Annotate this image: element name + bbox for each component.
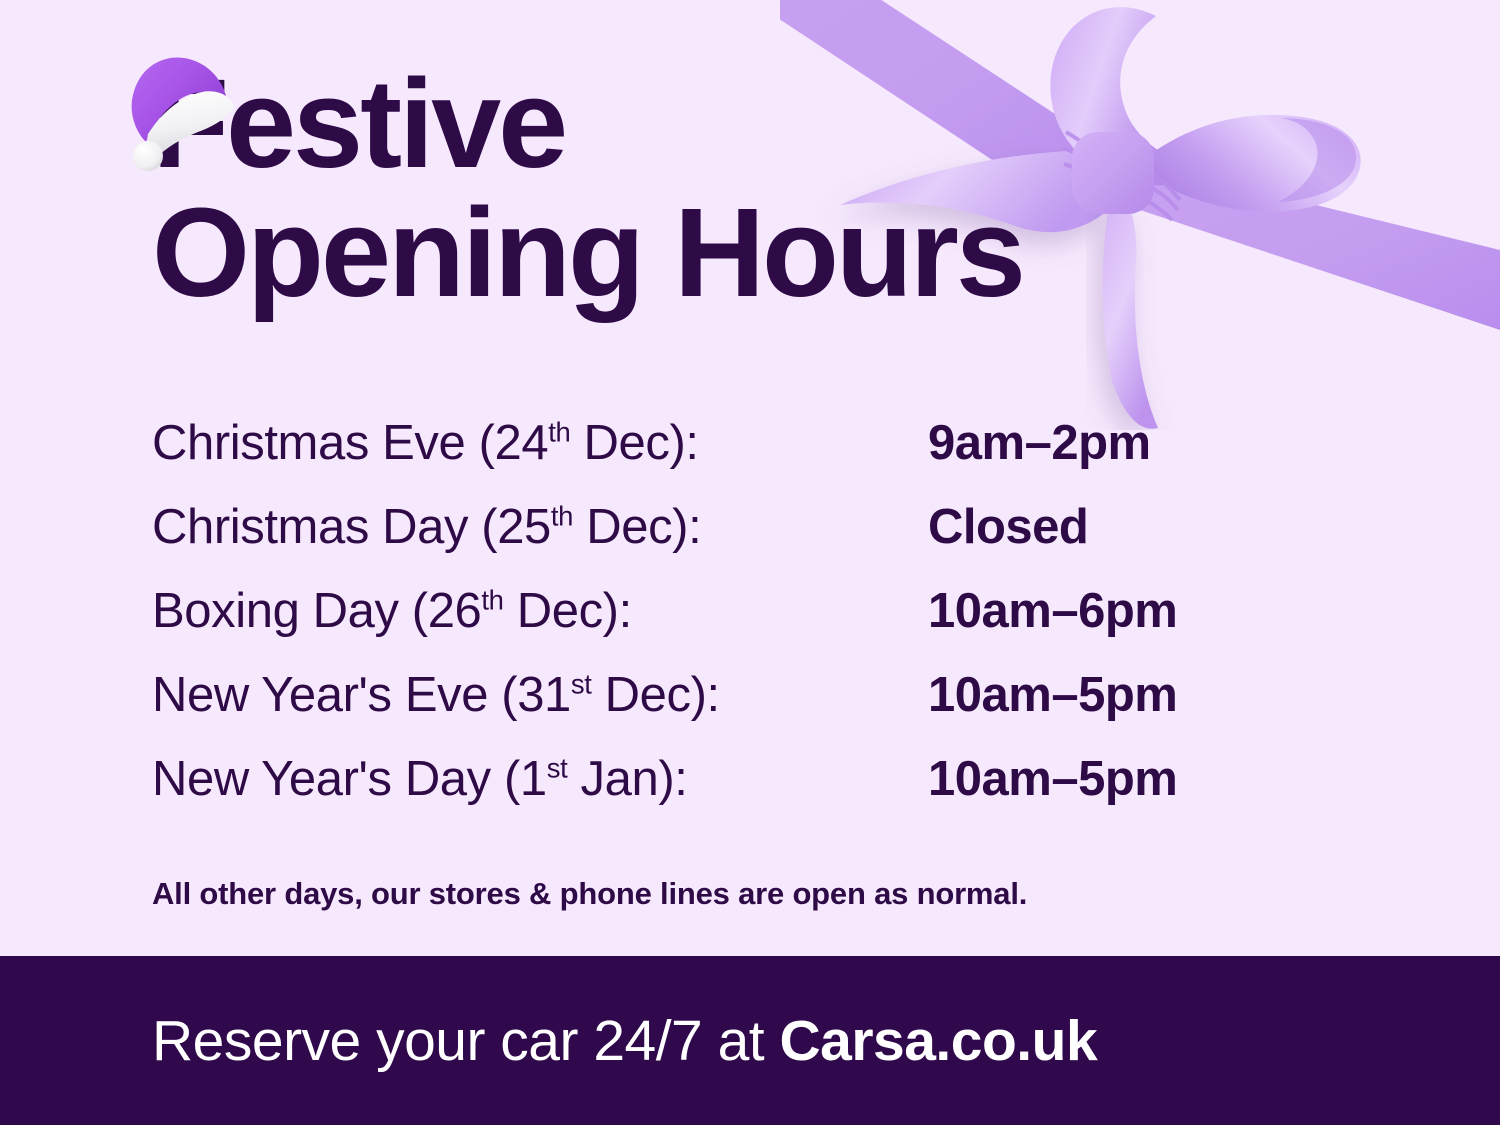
brand-link[interactable]: Carsa.co.uk <box>779 1009 1097 1073</box>
hours-value: 10am–5pm <box>928 751 1177 807</box>
hours-label: Christmas Eve (24th Dec): <box>152 415 928 471</box>
list-item: Christmas Day (25th Dec): Closed <box>152 499 1332 583</box>
hours-label-prefix: New Year's Eve (31 <box>152 668 571 722</box>
page-title: Festive Opening Hours <box>152 60 1272 317</box>
festive-opening-hours-poster: Festive Opening Hours Christmas Eve (24t… <box>0 0 1500 1125</box>
hours-label-prefix: Boxing Day (26 <box>152 584 481 638</box>
hours-value: 10am–5pm <box>928 667 1177 723</box>
footer-banner: Reserve your car 24/7 at Carsa.co.uk <box>0 956 1500 1125</box>
santa-hat-icon <box>110 46 240 172</box>
hours-label: Boxing Day (26th Dec): <box>152 583 928 639</box>
list-item: Christmas Eve (24th Dec): 9am–2pm <box>152 415 1332 499</box>
hours-value: Closed <box>928 499 1088 555</box>
hours-label: New Year's Eve (31st Dec): <box>152 667 928 723</box>
list-item: New Year's Eve (31st Dec): 10am–5pm <box>152 667 1332 751</box>
hours-label: New Year's Day (1st Jan): <box>152 751 928 807</box>
hours-label-suffix: Dec): <box>591 668 719 722</box>
hours-label-prefix: Christmas Day (25 <box>152 500 551 554</box>
hours-label-prefix: New Year's Day (1 <box>152 752 547 806</box>
hours-value: 9am–2pm <box>928 415 1151 471</box>
header: Festive Opening Hours <box>152 60 1272 317</box>
hours-label-suffix: Dec): <box>504 584 632 638</box>
hours-label-ordinal: st <box>571 669 592 700</box>
hours-label-ordinal: th <box>548 417 570 448</box>
hours-label-suffix: Dec): <box>570 416 698 470</box>
hours-label-ordinal: th <box>481 585 503 616</box>
hours-label-ordinal: th <box>551 501 573 532</box>
hours-label-ordinal: st <box>547 753 568 784</box>
hours-label-suffix: Jan): <box>567 752 687 806</box>
footer-lead-text: Reserve your car 24/7 at <box>152 1009 779 1073</box>
hours-label-suffix: Dec): <box>573 500 701 554</box>
opening-hours-list: Christmas Eve (24th Dec): 9am–2pm Christ… <box>152 415 1332 835</box>
list-item: New Year's Day (1st Jan): 10am–5pm <box>152 751 1332 835</box>
hours-label: Christmas Day (25th Dec): <box>152 499 928 555</box>
hours-value: 10am–6pm <box>928 583 1177 639</box>
list-item: Boxing Day (26th Dec): 10am–6pm <box>152 583 1332 667</box>
footer-cta: Reserve your car 24/7 at Carsa.co.uk <box>152 1008 1097 1074</box>
footnote-text: All other days, our stores & phone lines… <box>152 876 1027 912</box>
hours-label-prefix: Christmas Eve (24 <box>152 416 548 470</box>
